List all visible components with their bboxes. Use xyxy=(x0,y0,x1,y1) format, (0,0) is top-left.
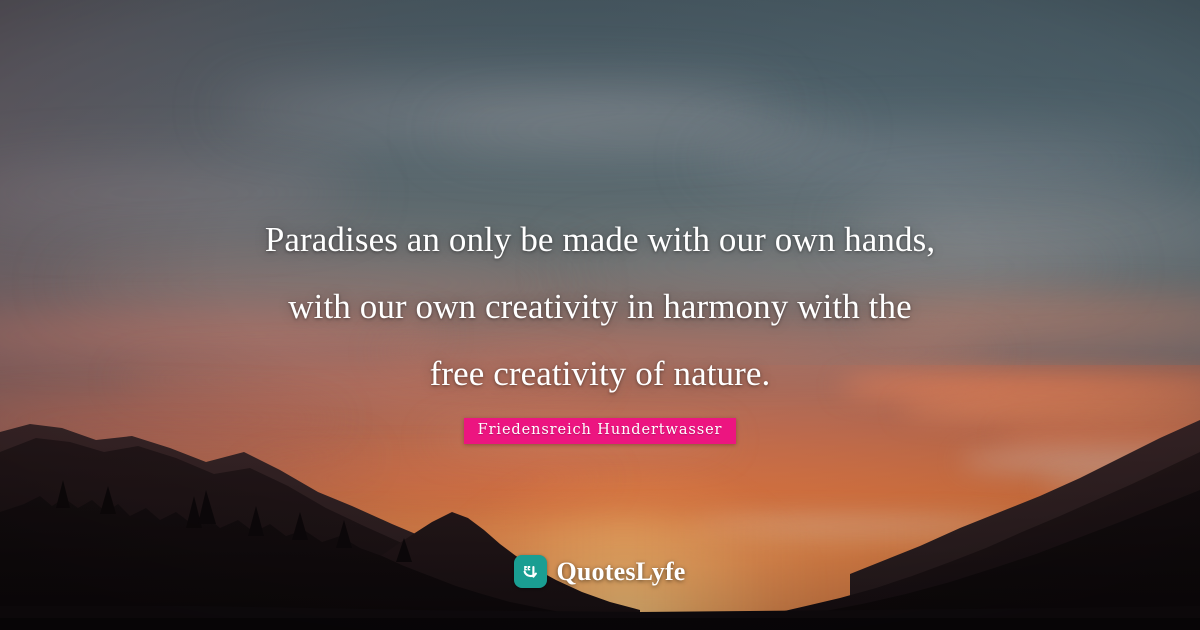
author-name-badge: Friedensreich Hundertwasser xyxy=(464,418,737,444)
quote-card: Paradises an only be made with our own h… xyxy=(0,0,1200,630)
quote-smile-icon xyxy=(514,555,547,588)
quote-text: Paradises an only be made with our own h… xyxy=(0,206,1200,407)
quote-line-1: Paradises an only be made with our own h… xyxy=(90,206,1110,273)
brand-name: QuotesLyfe xyxy=(556,559,685,585)
quote-line-2: with our own creativity in harmony with … xyxy=(90,273,1110,340)
quote-line-3: free creativity of nature. xyxy=(90,340,1110,407)
author-attribution: Friedensreich Hundertwasser xyxy=(0,418,1200,444)
brand-logo[interactable]: QuotesLyfe xyxy=(0,555,1200,588)
